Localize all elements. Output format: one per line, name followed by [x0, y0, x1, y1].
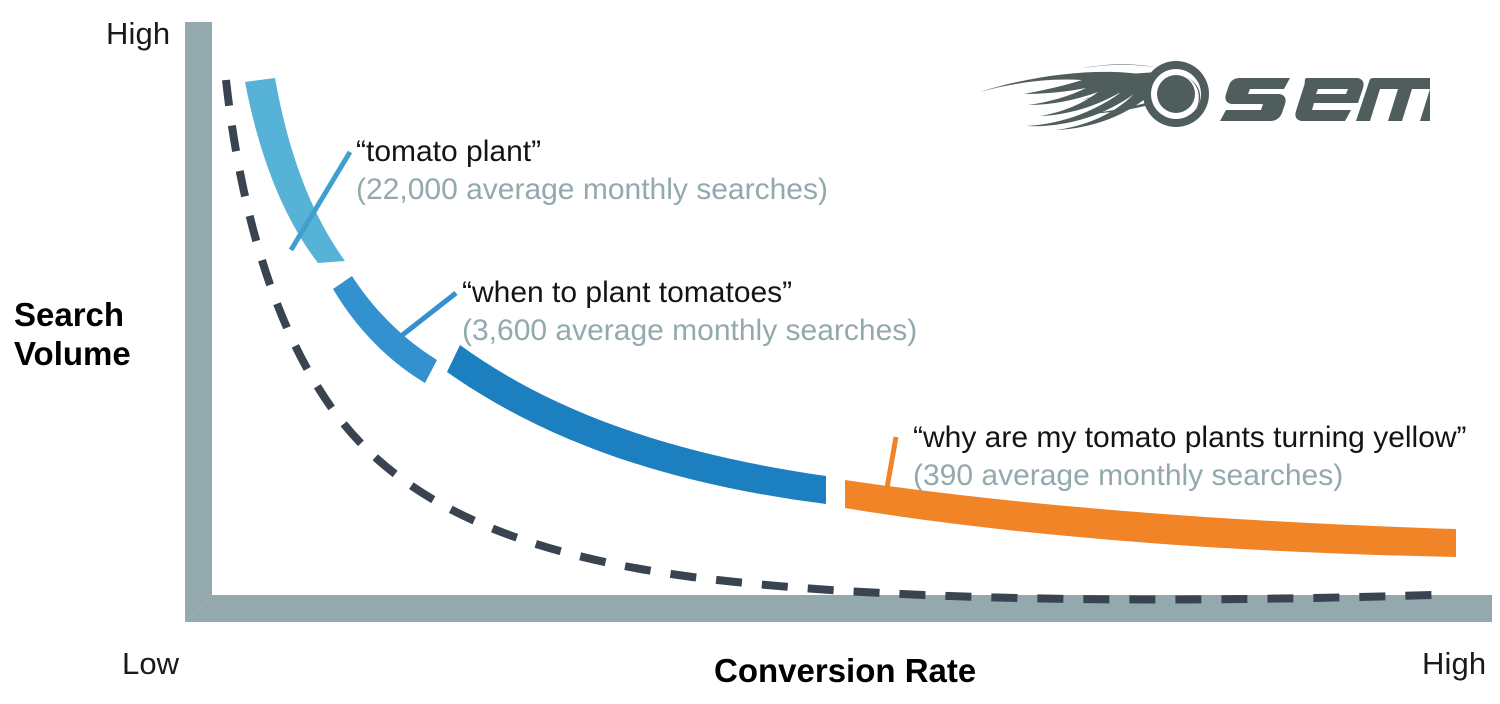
annotation-why-tomato-plants-turning-yellow: “why are my tomato plants turning yellow… [913, 419, 1467, 496]
annotation-keyword: “why are my tomato plants turning yellow… [913, 419, 1467, 457]
semrush-logo-svg [978, 58, 1430, 130]
y-axis-title: Search Volume [14, 296, 131, 374]
segment-middle-band [333, 276, 437, 383]
annotation-volume: (390 average monthly searches) [913, 457, 1467, 495]
annotation-keyword: “when to plant tomatoes” [462, 274, 917, 312]
semrush-logo [978, 58, 1430, 130]
x-axis-title: Conversion Rate [714, 652, 976, 691]
segment-body-band [447, 345, 826, 504]
annotation-keyword: “tomato plant” [356, 133, 828, 171]
segment-head-band [245, 78, 345, 263]
semrush-wordmark [1220, 66, 1430, 121]
x-axis-high-tick: High [1422, 646, 1486, 682]
y-axis-high-tick: High [106, 16, 170, 52]
annotation-volume: (22,000 average monthly searches) [356, 171, 828, 209]
y-axis-title-line2: Volume [14, 335, 131, 374]
semrush-flame-icon [980, 61, 1209, 130]
annotation-volume: (3,600 average monthly searches) [462, 312, 917, 350]
y-axis-title-line1: Search [14, 296, 131, 335]
x-axis-bar [185, 595, 1492, 622]
annotation-when-to-plant-tomatoes: “when to plant tomatoes” (3,600 average … [462, 274, 917, 351]
chart-canvas: High Low High Search Volume Conversion R… [0, 0, 1500, 704]
x-axis-low-tick: Low [122, 646, 179, 682]
y-axis-bar [185, 22, 212, 622]
annotation-tomato-plant: “tomato plant” (22,000 average monthly s… [356, 133, 828, 210]
leader-line-when-to-plant [396, 293, 456, 340]
